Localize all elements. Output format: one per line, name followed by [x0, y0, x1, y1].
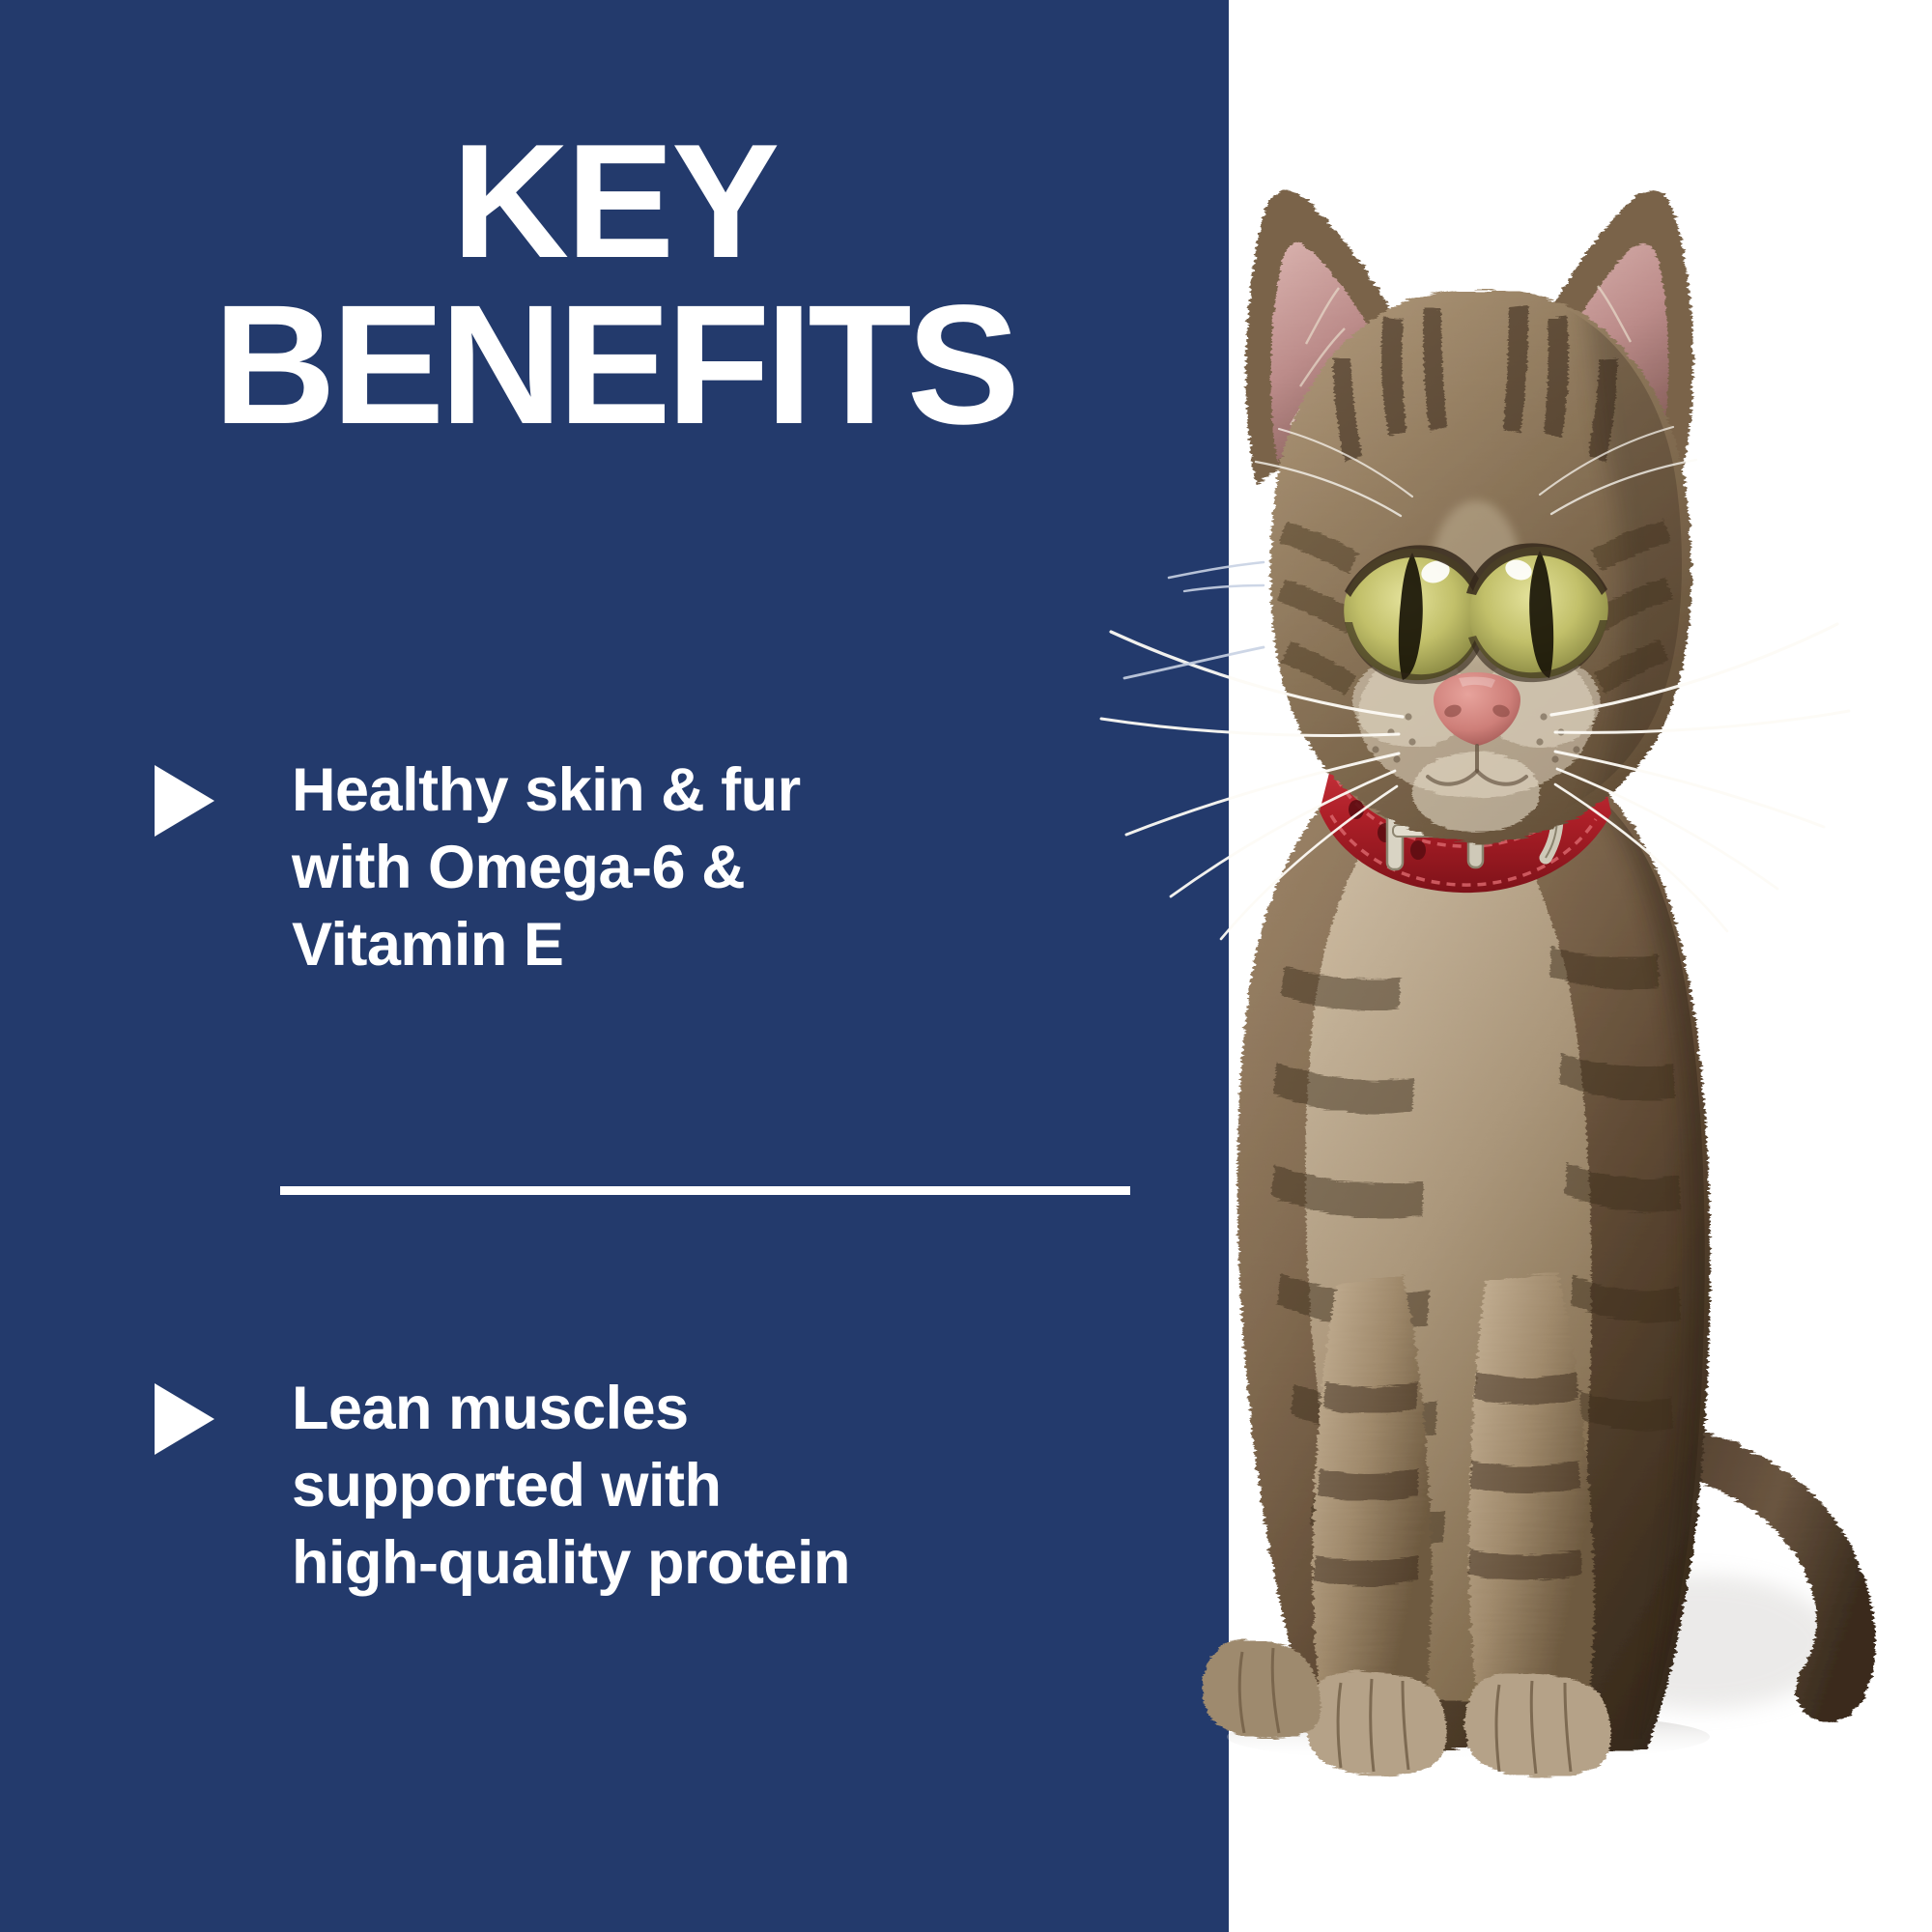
cat-photo-area: [1229, 0, 1932, 1932]
benefit-item-label: Lean muscles supported with high-quality…: [292, 1370, 850, 1602]
tabby-cat-image: [966, 0, 1932, 1932]
triangle-right-icon: [155, 1383, 214, 1455]
key-benefits-panel: KEY BENEFITS Healthy skin & fur with Ome…: [0, 0, 1932, 1932]
triangle-right-icon: [155, 765, 214, 837]
benefit-item-label: Healthy skin & fur with Omega-6 & Vitami…: [292, 752, 801, 983]
